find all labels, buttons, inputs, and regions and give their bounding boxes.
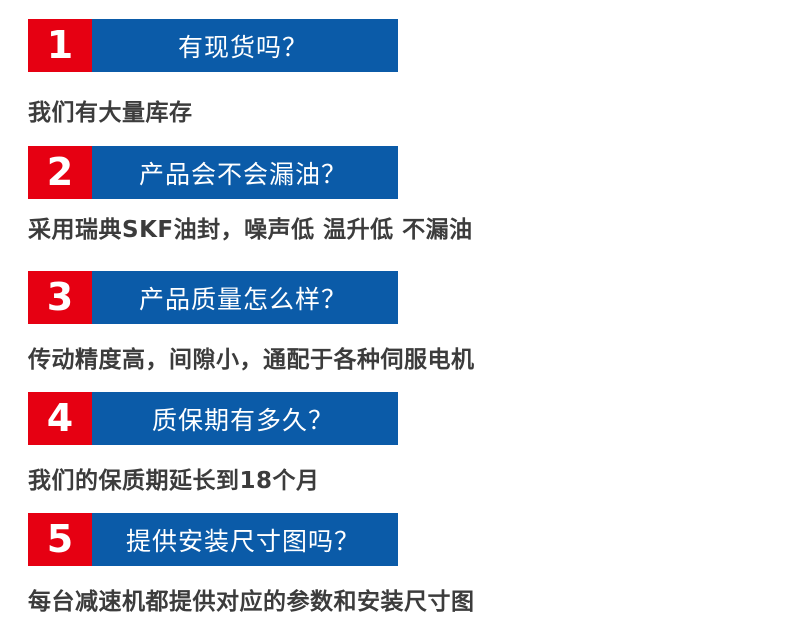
faq-question-title: 有现货吗？: [92, 19, 398, 72]
faq-answer-text: 每台减速机都提供对应的参数和安装尺寸图: [28, 582, 475, 616]
faq-answer-text: 我们的保质期延长到18个月: [28, 461, 320, 495]
faq-answer-text: 传动精度高，间隙小，通配于各种伺服电机: [28, 340, 475, 374]
faq-banner: 1 有现货吗？: [28, 19, 398, 72]
faq-number-badge: 1: [28, 19, 92, 72]
faq-question-title: 提供安装尺寸图吗？: [92, 513, 398, 566]
faq-question-title: 产品质量怎么样？: [92, 271, 398, 324]
faq-banner: 2 产品会不会漏油？: [28, 146, 398, 199]
faq-number-badge: 5: [28, 513, 92, 566]
faq-answer-text: 我们有大量库存: [28, 93, 193, 127]
faq-question-title: 产品会不会漏油？: [92, 146, 398, 199]
faq-banner: 3 产品质量怎么样？: [28, 271, 398, 324]
faq-answer-text: 采用瑞典SKF油封，噪声低 温升低 不漏油: [28, 210, 473, 244]
faq-number-badge: 4: [28, 392, 92, 445]
faq-banner: 4 质保期有多久？: [28, 392, 398, 445]
faq-number-badge: 3: [28, 271, 92, 324]
faq-number-badge: 2: [28, 146, 92, 199]
faq-banner: 5 提供安装尺寸图吗？: [28, 513, 398, 566]
faq-question-title: 质保期有多久？: [92, 392, 398, 445]
